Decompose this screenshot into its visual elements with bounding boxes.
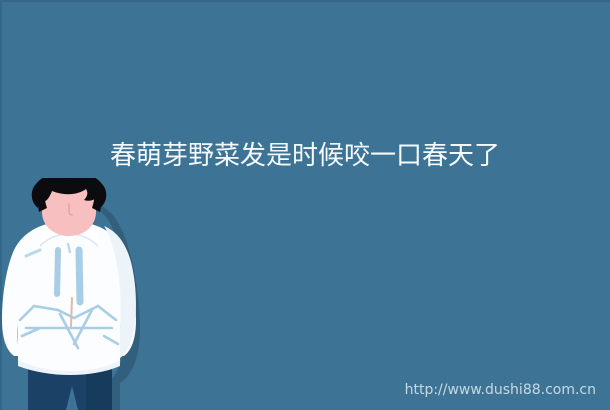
article-banner-image: 春萌芽野菜发是时候咬一口春天了 http://www.dushi88.com.c… bbox=[0, 0, 610, 410]
banner-headline-text: 春萌芽野菜发是时候咬一口春天了 bbox=[0, 141, 610, 171]
hoodie bbox=[2, 222, 136, 375]
source-watermark-url: http://www.dushi88.com.cn bbox=[405, 382, 596, 398]
person-in-white-hoodie-illustration bbox=[0, 178, 150, 410]
